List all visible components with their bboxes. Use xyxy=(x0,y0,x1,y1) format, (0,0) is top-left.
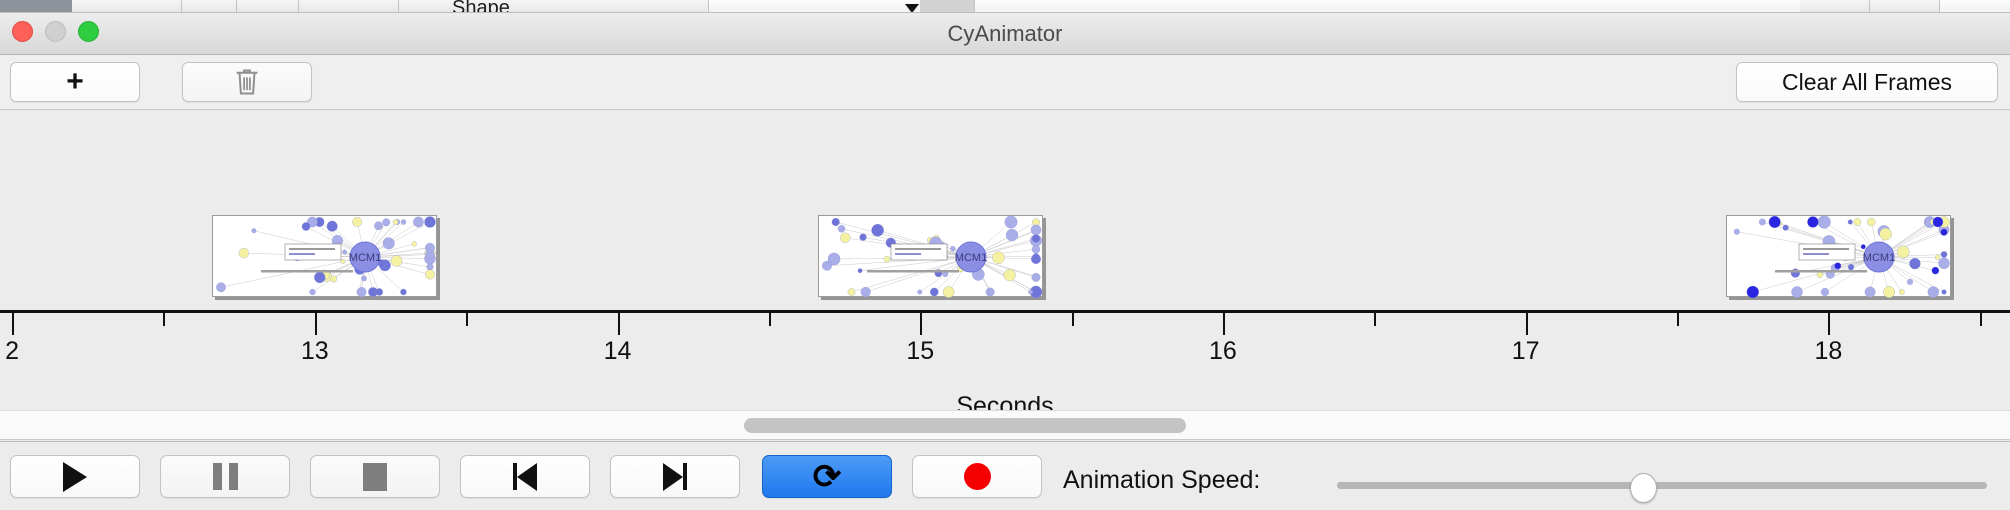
svg-text:MCM1: MCM1 xyxy=(955,252,987,264)
network-preview: MCM1 xyxy=(213,216,438,298)
frame-thumbnail: MCM1 xyxy=(1726,215,1951,297)
axis-tick-minor xyxy=(1677,313,1679,326)
skip-back-button[interactable] xyxy=(460,455,590,498)
skip-back-icon xyxy=(513,463,537,491)
animation-speed-slider[interactable] xyxy=(1337,473,1987,501)
title-bar: CyAnimator xyxy=(0,13,2010,55)
stop-icon xyxy=(363,463,387,491)
axis-tick-label: 16 xyxy=(1209,337,1237,366)
axis-tick-label: 14 xyxy=(604,337,632,366)
axis-tick-minor xyxy=(1374,313,1376,326)
background-window-label: Shape xyxy=(452,0,510,13)
axis-tick-minor xyxy=(769,313,771,326)
svg-text:MCM1: MCM1 xyxy=(349,252,381,264)
axis-title: Seconds xyxy=(0,392,2010,410)
stop-button[interactable] xyxy=(310,455,440,498)
window-title: CyAnimator xyxy=(0,13,2010,55)
timeline-panel[interactable]: MCM1MCM1MCM1 2131415161718 Seconds xyxy=(0,110,2010,410)
add-frame-button[interactable]: + xyxy=(10,62,140,102)
axis-tick-major xyxy=(618,313,620,335)
axis-tick-label: 17 xyxy=(1512,337,1540,366)
network-preview: MCM1 xyxy=(1727,216,1952,298)
play-icon xyxy=(63,462,87,492)
cyanimator-window: Shape CyAnimator + Clear All Frames MCM1… xyxy=(0,0,2010,510)
slider-track xyxy=(1337,482,1987,489)
pause-icon xyxy=(213,463,238,490)
axis-tick-label: 13 xyxy=(301,337,329,366)
loop-icon: ⟳ xyxy=(813,460,842,494)
axis-tick-major xyxy=(1526,313,1528,335)
playback-controls: ⟳ Animation Speed: xyxy=(0,441,2010,510)
animation-speed-label: Animation Speed: xyxy=(1063,466,1260,495)
timeline-frame[interactable]: MCM1 xyxy=(818,215,1043,297)
axis-tick-major xyxy=(315,313,317,335)
axis-line xyxy=(0,310,2010,313)
skip-forward-icon xyxy=(663,463,687,491)
record-icon xyxy=(964,463,991,490)
axis-tick-major xyxy=(12,313,14,335)
timeline-frame[interactable]: MCM1 xyxy=(212,215,437,297)
trash-icon xyxy=(233,67,261,97)
plus-icon: + xyxy=(66,67,84,97)
axis-tick-minor xyxy=(1980,313,1982,326)
record-button[interactable] xyxy=(912,455,1042,498)
background-window-strip: Shape xyxy=(0,0,2010,13)
clear-all-frames-label: Clear All Frames xyxy=(1782,69,1952,96)
axis-tick-major xyxy=(920,313,922,335)
frame-thumbnail: MCM1 xyxy=(212,215,437,297)
frames-area[interactable]: MCM1MCM1MCM1 xyxy=(0,110,2010,310)
clear-all-frames-button[interactable]: Clear All Frames xyxy=(1736,62,1998,102)
axis-tick-major xyxy=(1223,313,1225,335)
loop-button[interactable]: ⟳ xyxy=(762,455,892,498)
axis-tick-minor xyxy=(1072,313,1074,326)
axis-tick-minor xyxy=(466,313,468,326)
axis-tick-minor xyxy=(163,313,165,326)
play-button[interactable] xyxy=(10,455,140,498)
slider-thumb[interactable] xyxy=(1630,473,1657,503)
axis-tick-label: 2 xyxy=(5,337,19,366)
axis-tick-major xyxy=(1828,313,1830,335)
timeline-scrollbar[interactable] xyxy=(0,410,2010,440)
axis-tick-label: 15 xyxy=(906,337,934,366)
network-preview: MCM1 xyxy=(819,216,1044,298)
timeline-frame[interactable]: MCM1 xyxy=(1726,215,1951,297)
svg-text:MCM1: MCM1 xyxy=(1863,252,1895,264)
background-window-titlebar xyxy=(0,0,72,13)
toolbar: + Clear All Frames xyxy=(0,55,2010,110)
skip-forward-button[interactable] xyxy=(610,455,740,498)
axis-tick-label: 18 xyxy=(1814,337,1842,366)
delete-frame-button[interactable] xyxy=(182,62,312,102)
pause-button[interactable] xyxy=(160,455,290,498)
scrollbar-thumb[interactable] xyxy=(744,418,1186,433)
frame-thumbnail: MCM1 xyxy=(818,215,1043,297)
timeline-axis: 2131415161718 Seconds xyxy=(0,310,2010,410)
background-caret-icon xyxy=(905,4,919,13)
